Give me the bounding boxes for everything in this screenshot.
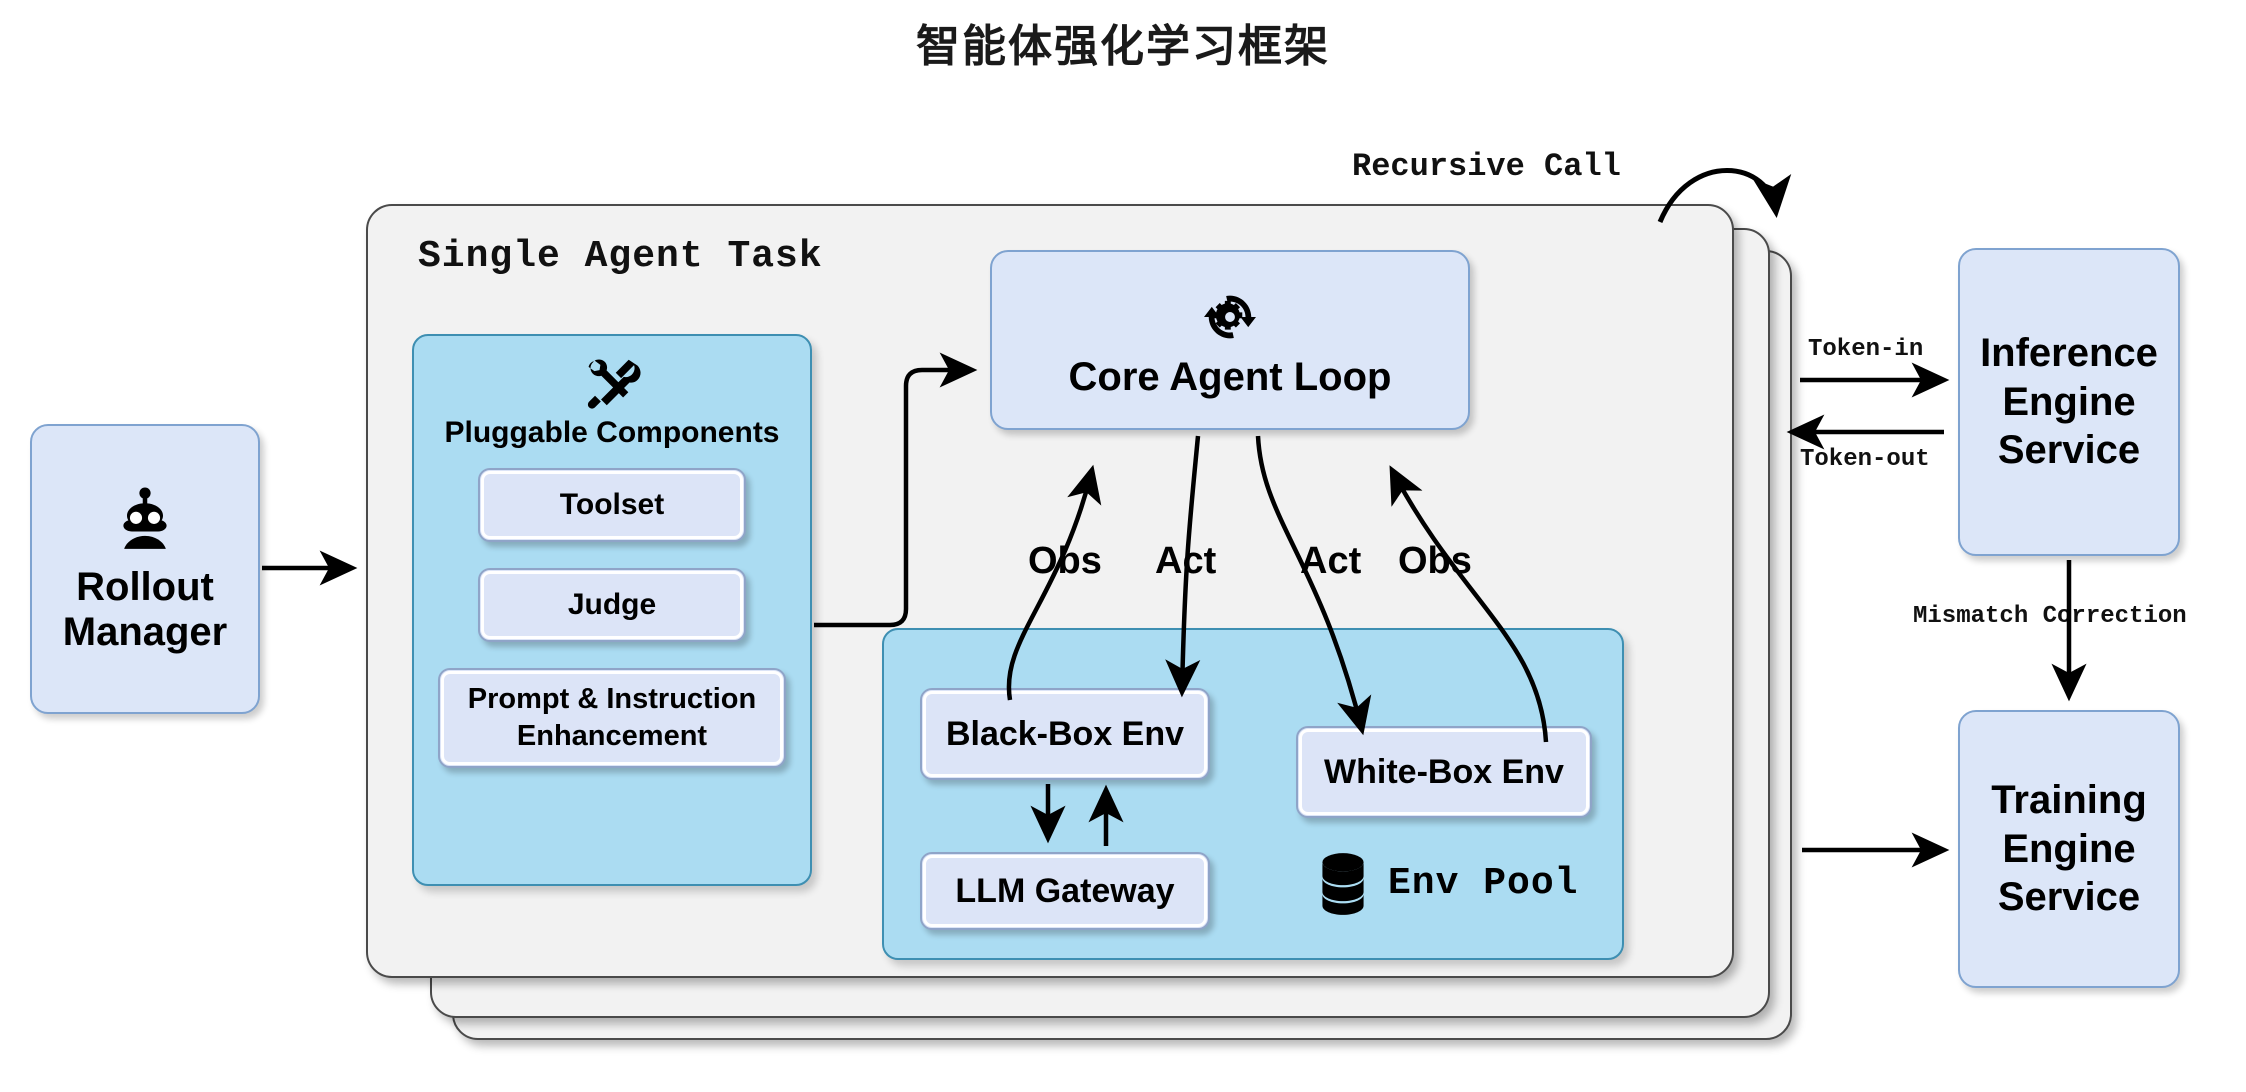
gear-loop-icon [1194, 281, 1266, 353]
act-left-label: Act [1155, 540, 1216, 583]
rollout-manager-node[interactable]: Rollout Manager [30, 424, 260, 714]
training-engine-service-node[interactable]: Training Engine Service [1958, 710, 2180, 988]
page-title: 智能体强化学习框架 [0, 10, 2246, 74]
pluggable-components-label: Pluggable Components [444, 416, 779, 450]
env-pool-legend: Env Pool [1314, 852, 1578, 916]
prompt-instruction-enhancement-item[interactable]: Prompt & Instruction Enhancement [438, 668, 786, 768]
black-box-env-node[interactable]: Black-Box Env [920, 688, 1210, 780]
diagram-canvas: 智能体强化学习框架 Single Agent Task Rollout Mana… [0, 0, 2246, 1092]
core-agent-loop-node[interactable]: Core Agent Loop [990, 250, 1470, 430]
single-agent-task-label: Single Agent Task [418, 235, 823, 278]
black-box-env-label: Black-Box Env [946, 715, 1184, 753]
robot-icon [109, 483, 181, 555]
obs-left-label: Obs [1028, 540, 1102, 583]
toolset-item[interactable]: Toolset [478, 468, 746, 542]
obs-right-label: Obs [1398, 540, 1472, 583]
inference-engine-service-label: Inference Engine Service [1980, 329, 2158, 475]
hammer-and-wrench-icon [582, 352, 642, 412]
judge-label: Judge [568, 588, 656, 622]
pluggable-components-panel[interactable]: Pluggable Components Toolset Judge Promp… [412, 334, 812, 886]
token-in-label: Token-in [1808, 336, 1923, 363]
act-right-label: Act [1300, 540, 1361, 583]
llm-gateway-label: LLM Gateway [955, 872, 1174, 910]
recursive-call-label: Recursive Call [1352, 148, 1621, 185]
env-pool-panel[interactable]: Black-Box Env White-Box Env LLM Gateway … [882, 628, 1624, 960]
database-icon [1314, 852, 1372, 916]
token-out-label: Token-out [1800, 446, 1930, 473]
white-box-env-label: White-Box Env [1324, 753, 1564, 791]
judge-item[interactable]: Judge [478, 568, 746, 642]
core-agent-loop-label: Core Agent Loop [1069, 355, 1392, 400]
training-engine-service-label: Training Engine Service [1991, 776, 2147, 922]
mismatch-correction-label: Mismatch Correction [1913, 603, 2187, 630]
rollout-manager-label: Rollout Manager [63, 565, 228, 655]
toolset-label: Toolset [560, 488, 664, 522]
white-box-env-node[interactable]: White-Box Env [1296, 726, 1592, 818]
env-pool-label: Env Pool [1388, 863, 1578, 906]
prompt-instruction-enhancement-label: Prompt & Instruction Enhancement [468, 681, 756, 754]
llm-gateway-node[interactable]: LLM Gateway [920, 852, 1210, 930]
inference-engine-service-node[interactable]: Inference Engine Service [1958, 248, 2180, 556]
